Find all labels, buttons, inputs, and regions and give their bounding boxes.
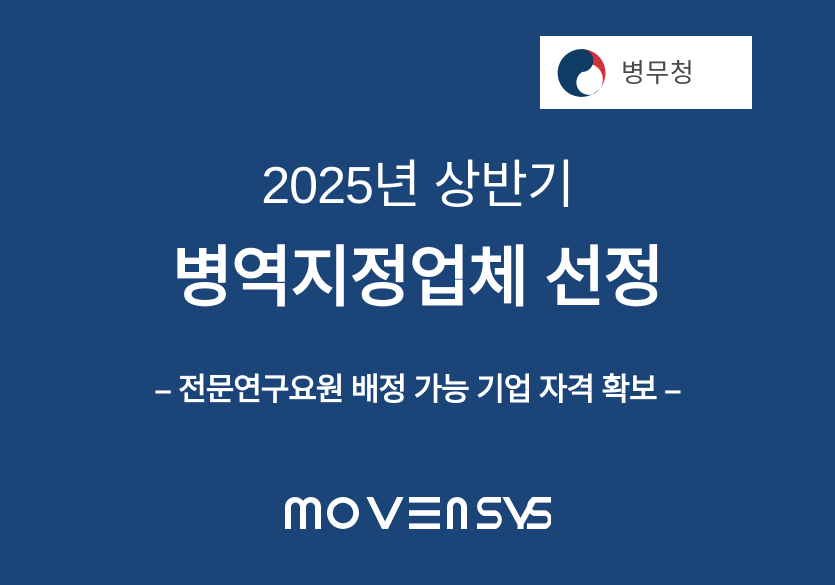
poster-canvas: 병무청 2025년 상반기 병역지정업체 선정 – 전문연구요원 배정 가능 기… [0,0,835,585]
subtitle-text: – 전문연구요원 배정 가능 기업 자격 확보 – [0,374,835,405]
company-wordmark [0,487,835,531]
movensys-logo-icon [285,487,551,531]
page-title: 병역지정업체 선정 [0,243,835,312]
eyebrow-text: 2025년 상반기 [0,160,835,212]
